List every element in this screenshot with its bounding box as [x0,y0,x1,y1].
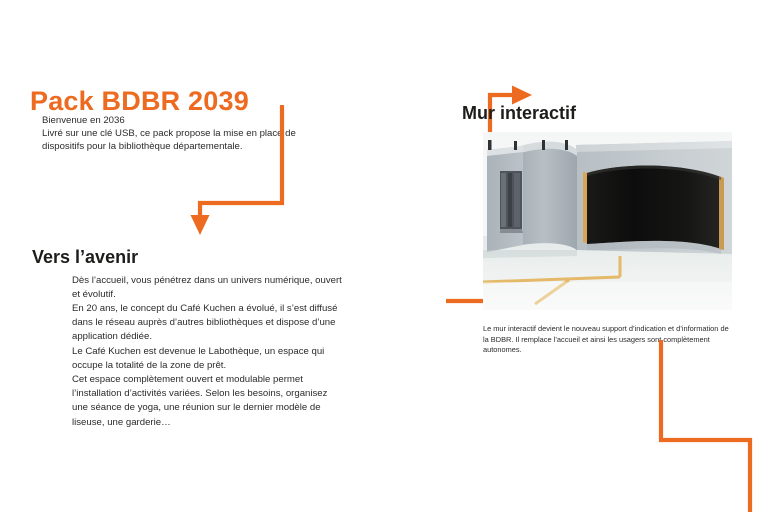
arrow-head-right-icon [512,86,532,105]
section-heading-future: Vers l’avenir [32,247,138,268]
future-paragraph: Dès l’accueil, vous pénétrez dans un uni… [72,274,342,430]
poster-page: Pack BDBR 2039 Bienvenue en 2036 Livré s… [0,0,768,512]
interactive-wall-render-image [483,132,732,310]
arrow-head-down-icon [191,215,210,235]
arrow-wall-to-next-connector [640,330,768,517]
arrow-intro-to-future-connector [170,95,300,245]
section-heading-wall: Mur interactif [462,103,576,124]
